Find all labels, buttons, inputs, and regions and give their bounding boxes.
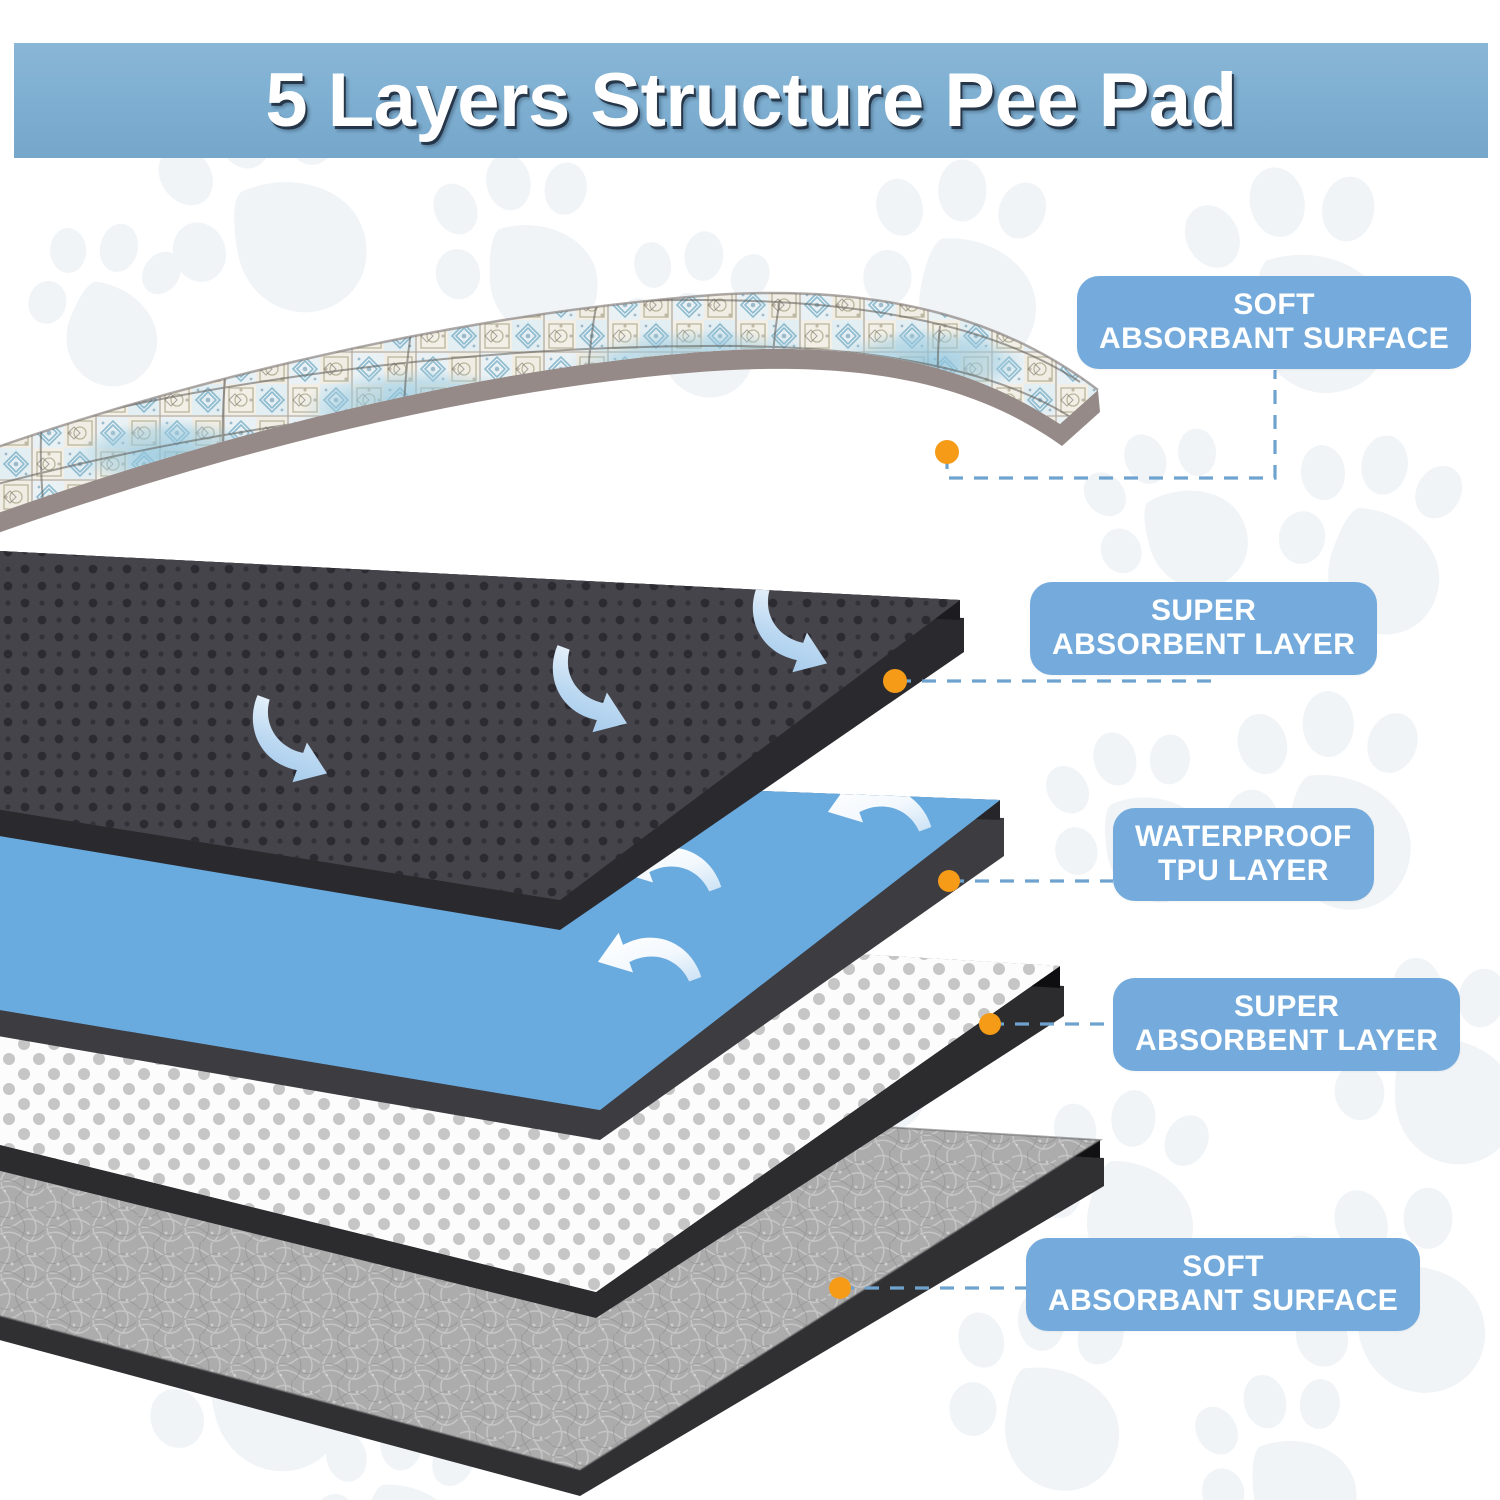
connector-marker-3 bbox=[938, 870, 960, 892]
callout-soft-absorbant-surface-top: SOFT ABSORBANT SURFACE bbox=[1077, 276, 1471, 369]
page-title: 5 Layers Structure Pee Pad bbox=[265, 57, 1236, 144]
callout-soft-absorbant-surface-bottom: SOFT ABSORBANT SURFACE bbox=[1026, 1238, 1420, 1331]
callout-2-line-1: SUPER bbox=[1052, 594, 1355, 628]
layer-top-patterned-fabric bbox=[0, 270, 1140, 570]
callout-2-line-2: ABSORBENT LAYER bbox=[1052, 628, 1355, 662]
connector-marker-2 bbox=[883, 669, 907, 693]
connector-marker-5 bbox=[829, 1277, 851, 1299]
callout-waterproof-tpu-layer: WATERPROOF TPU LAYER bbox=[1113, 808, 1374, 901]
infographic-canvas: 5 Layers Structure Pee Pad bbox=[0, 0, 1500, 1500]
callout-3-line-2: TPU LAYER bbox=[1135, 854, 1352, 888]
header-banner: 5 Layers Structure Pee Pad bbox=[14, 43, 1488, 158]
callout-5-line-2: ABSORBANT SURFACE bbox=[1048, 1284, 1398, 1318]
callout-1-line-2: ABSORBANT SURFACE bbox=[1099, 322, 1449, 356]
connector-marker-4 bbox=[979, 1013, 1001, 1035]
callout-super-absorbent-layer-lower: SUPER ABSORBENT LAYER bbox=[1113, 978, 1460, 1071]
callout-5-line-1: SOFT bbox=[1048, 1250, 1398, 1284]
callout-4-line-2: ABSORBENT LAYER bbox=[1135, 1024, 1438, 1058]
callout-1-line-1: SOFT bbox=[1099, 288, 1449, 322]
connector-marker-1 bbox=[935, 440, 959, 464]
callout-4-line-1: SUPER bbox=[1135, 990, 1438, 1024]
callout-super-absorbent-layer-upper: SUPER ABSORBENT LAYER bbox=[1030, 582, 1377, 675]
callout-3-line-1: WATERPROOF bbox=[1135, 820, 1352, 854]
